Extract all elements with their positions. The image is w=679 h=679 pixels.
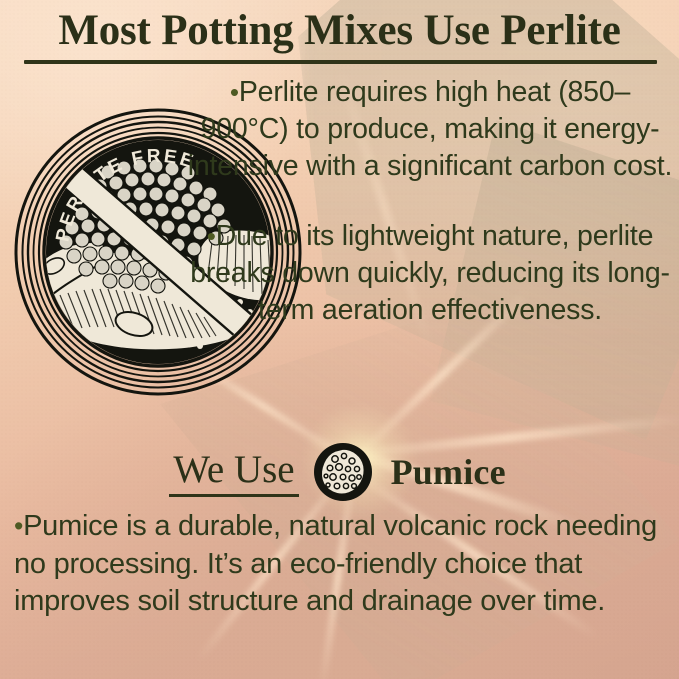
page-title: Most Potting Mixes Use Perlite <box>0 6 679 55</box>
bullet-dot-icon: • <box>230 77 239 107</box>
pumice-label: Pumice <box>391 451 506 493</box>
pumice-description-text: Pumice is a durable, natural volcanic ro… <box>14 510 657 617</box>
list-item: •Due to its lightweight nature, perlite … <box>186 218 674 328</box>
perlite-bullet-list: •Perlite requires high heat (850–900°C) … <box>186 74 674 329</box>
infographic-canvas: Most Potting Mixes Use Perlite <box>0 0 679 679</box>
bullet-text: Perlite requires high heat (850–900°C) t… <box>188 76 672 182</box>
title-underline <box>24 60 657 64</box>
bullet-dot-icon: • <box>14 511 23 541</box>
we-use-label: We Use <box>173 450 294 495</box>
bullet-text: Due to its lightweight nature, perlite b… <box>190 220 670 326</box>
bullet-dot-icon: • <box>207 221 216 251</box>
pumice-description: •Pumice is a durable, natural volcanic r… <box>14 508 669 621</box>
we-use-row: We Use Pumice <box>0 442 679 502</box>
list-item: •Perlite requires high heat (850–900°C) … <box>186 74 674 184</box>
pumice-rock-icon <box>313 442 373 502</box>
